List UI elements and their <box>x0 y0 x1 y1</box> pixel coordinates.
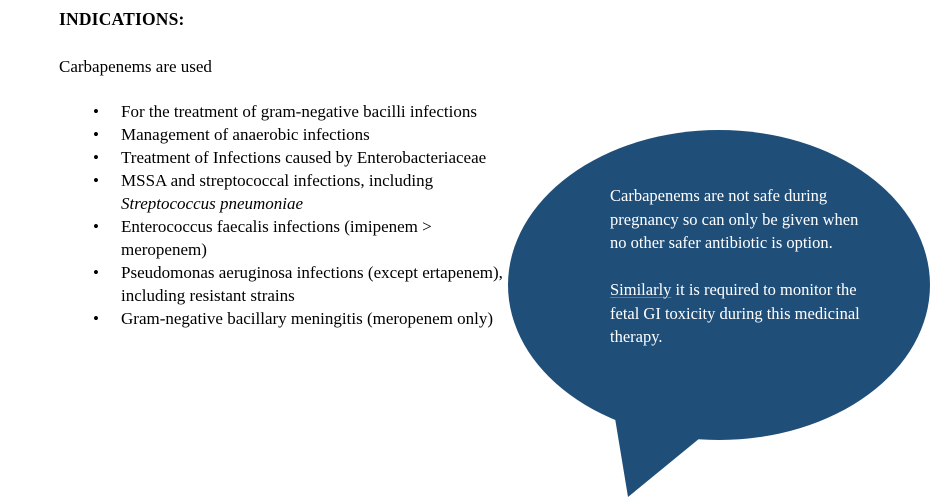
bubble-tail <box>612 400 700 497</box>
list-item-label-plain: MSSA and streptococcal infections, inclu… <box>121 171 433 190</box>
intro-text: Carbapenems are used <box>59 30 509 78</box>
species-name-italic: Streptococcus pneumoniae <box>121 194 303 213</box>
list-item: • Gram-negative bacillary meningitis (me… <box>59 307 509 330</box>
page-title: INDICATIONS: <box>59 8 509 30</box>
indications-bullet-list: • For the treatment of gram-negative bac… <box>59 78 509 330</box>
slide-canvas: INDICATIONS: Carbapenems are used • For … <box>0 0 937 501</box>
indications-block: INDICATIONS: Carbapenems are used • For … <box>59 8 509 330</box>
bullet-point-icon: • <box>93 169 99 192</box>
bullet-point-icon: • <box>93 215 99 238</box>
list-item-label: Gram-negative bacillary meningitis (mero… <box>121 309 493 328</box>
bubble-paragraph-monitoring: Similarly it is required to monitor the … <box>610 255 872 349</box>
list-item: • Enterococcus faecalis infections (imip… <box>59 215 509 261</box>
bullet-point-icon: • <box>93 123 99 146</box>
list-item-label: Management of anaerobic infections <box>121 125 370 144</box>
bubble-paragraph-pregnancy: Carbapenems are not safe during pregnanc… <box>610 184 872 255</box>
list-item: • Pseudomonas aeruginosa infections (exc… <box>59 261 509 307</box>
list-item: • Treatment of Infections caused by Ente… <box>59 146 509 169</box>
list-item-label: Enterococcus faecalis infections (imipen… <box>121 217 432 259</box>
bullet-point-icon: • <box>93 307 99 330</box>
list-item-label: For the treatment of gram-negative bacil… <box>121 102 477 121</box>
list-item: • Management of anaerobic infections <box>59 123 509 146</box>
list-item: • For the treatment of gram-negative bac… <box>59 100 509 123</box>
list-item-label: Treatment of Infections caused by Entero… <box>121 148 486 167</box>
list-item-label: Pseudomonas aeruginosa infections (excep… <box>121 263 503 305</box>
list-item: • MSSA and streptococcal infections, inc… <box>59 169 509 215</box>
speech-bubble-text: Carbapenems are not safe during pregnanc… <box>610 184 872 349</box>
bullet-point-icon: • <box>93 261 99 284</box>
list-item-label: MSSA and streptococcal infections, inclu… <box>121 171 433 213</box>
misspelled-word: Similarly <box>610 280 671 299</box>
bullet-point-icon: • <box>93 100 99 123</box>
bullet-point-icon: • <box>93 146 99 169</box>
